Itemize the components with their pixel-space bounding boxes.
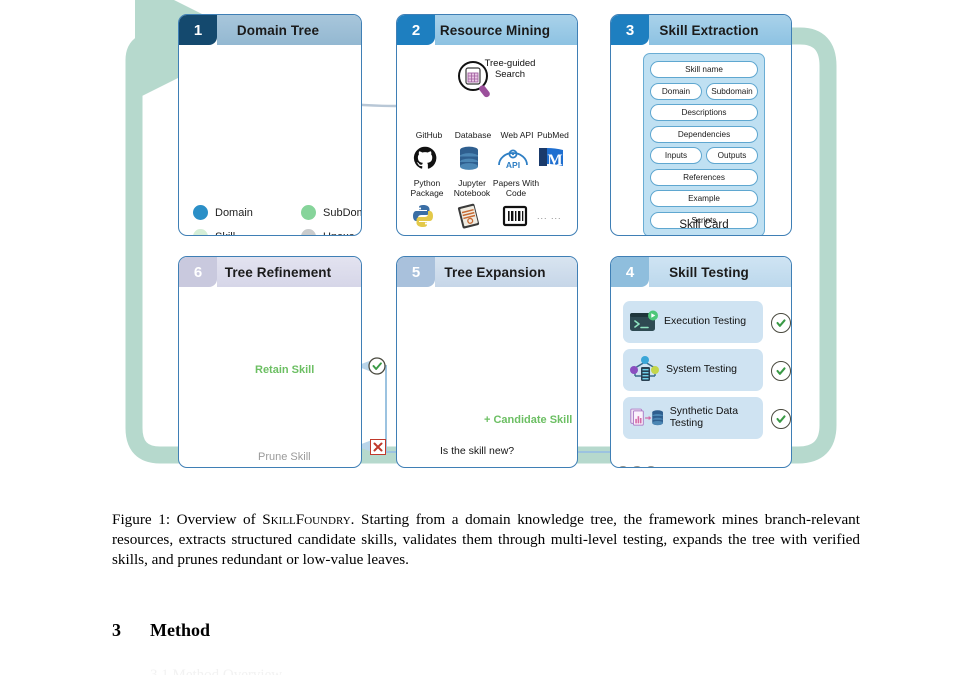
panel-number: 2 [397,15,435,45]
system-test-status-icon [771,361,791,381]
panel-resource-mining[interactable]: 2 Resource Mining Tree-guided Search [396,14,578,236]
panel-domain-tree[interactable]: 1 Domain Tree Domain SubDomain [178,14,362,236]
github-icon [403,143,447,173]
panel-header: 6 Tree Refinement [179,257,361,287]
panel-number: 4 [611,257,649,287]
papers-with-code-icon [493,201,537,231]
panel-header: 3 Skill Extraction [611,15,791,45]
next-heading-partial: 3.1 Method Overview [150,667,570,675]
skill-card-field-skill-name: Skill name [650,61,758,78]
panel-number: 3 [611,15,649,45]
caption-prefix: Figure 1: Overview of [112,511,262,528]
domain-node-icon [193,205,208,220]
skill-card-field-domain: Domain [650,83,702,100]
svg-text:M: M [547,152,562,169]
panel-skill-extraction[interactable]: 3 Skill Extraction Skill name Domain Sub… [610,14,792,236]
decision-no-x-icon [370,439,386,455]
section-number: 3 [112,620,150,641]
panel-header: 2 Resource Mining [397,15,577,45]
legend-label: Domain [215,207,253,219]
python-icon [401,201,445,231]
skill-card-field-row: Domain Subdomain [650,83,758,100]
panel-header: 5 Tree Expansion [397,257,577,287]
candidate-skill-label: + Candidate Skill [484,414,572,426]
panel-number: 1 [179,15,217,45]
skill-card-field-subdomain: Subdomain [706,83,758,100]
resource-label-papers-with-code: Papers With Code [490,179,542,198]
skill-card-field-references: References [650,169,758,186]
skill-card-field-dependencies: Dependencies [650,126,758,143]
execution-test-status-icon [771,313,791,333]
jupyter-icon [447,201,491,231]
caption-system-name: SkillFoundry [262,511,350,528]
skill-card-caption: Skill Card [643,219,765,231]
test-label: Execution Testing [664,316,746,328]
decision-yes-check-icon [369,358,385,374]
figure-1: 1 Domain Tree Domain SubDomain [0,0,960,492]
panel-title: Resource Mining [435,15,577,45]
panel-header: 4 Skill Testing [611,257,791,287]
skill-node-icon [193,229,208,236]
tree-guided-search-label: Tree-guided Search [475,59,545,81]
legend-item-skill: Skill [193,229,301,236]
skill-card: Skill name Domain Subdomain Descriptions… [643,53,765,236]
panel-title: Tree Expansion [435,257,577,287]
subdomain-node-icon [301,205,316,220]
skill-card-field-inputs: Inputs [650,147,702,164]
legend-item-domain: Domain [193,205,301,220]
skill-card-field-descriptions: Descriptions [650,104,758,121]
panel-tree-expansion[interactable]: 5 Tree Expansion [396,256,578,468]
test-row-system[interactable]: System Testing [623,349,763,391]
unexecuted-node-icon [301,229,316,236]
legend-label: Unexecuted [323,231,362,237]
test-row-synthetic-data[interactable]: Synthetic Data Testing [623,397,763,439]
prune-skill-label: Prune Skill [258,451,311,463]
all-tests-pass-icons [613,465,669,468]
skill-card-field-row: Inputs Outputs [650,147,758,164]
test-label: System Testing [666,364,737,376]
panel-title: Skill Extraction [649,15,791,45]
legend-row: Skill Unexecuted [193,229,362,236]
panel-title: Tree Refinement [217,257,361,287]
panel-skill-testing[interactable]: 4 Skill Testing Execution Testing [610,256,792,468]
tree-legend: Domain SubDomain Skill [193,205,362,236]
section-heading: 3Method [112,620,210,641]
figure-caption: Figure 1: Overview of SkillFoundry. Star… [112,510,860,569]
terminal-icon [629,310,659,334]
database-icon [447,143,491,173]
pubmed-icon: M [529,143,573,173]
legend-label: SubDomain [323,207,362,219]
resource-label-pubmed: PubMed [527,131,578,141]
is-skill-new-label: Is the skill new? [440,445,514,457]
test-label: Synthetic Data Testing [670,406,763,430]
legend-item-unexecuted: Unexecuted [301,229,362,236]
svg-text:API: API [506,160,520,170]
panel-number: 6 [179,257,217,287]
panel-header: 1 Domain Tree [179,15,361,45]
legend-label: Skill [215,231,235,237]
synthetic-data-icon [629,403,665,433]
skill-card-field-example: Example [650,190,758,207]
section-title: Method [150,620,210,640]
panel-tree-refinement[interactable]: 6 Tree Refinement [178,256,362,468]
skill-card-field-outputs: Outputs [706,147,758,164]
panel-number: 5 [397,257,435,287]
panel-title: Skill Testing [649,257,791,287]
system-nodes-icon [629,354,661,386]
synthetic-data-test-status-icon [771,409,791,429]
more-resources-label: ... ... [537,211,562,221]
test-row-execution[interactable]: Execution Testing [623,301,763,343]
paper-page: 1 Domain Tree Domain SubDomain [0,0,960,675]
panel-title: Domain Tree [217,15,361,45]
legend-row: Domain SubDomain [193,205,362,220]
legend-item-subdomain: SubDomain [301,205,362,220]
retain-skill-label: Retain Skill [255,364,314,376]
